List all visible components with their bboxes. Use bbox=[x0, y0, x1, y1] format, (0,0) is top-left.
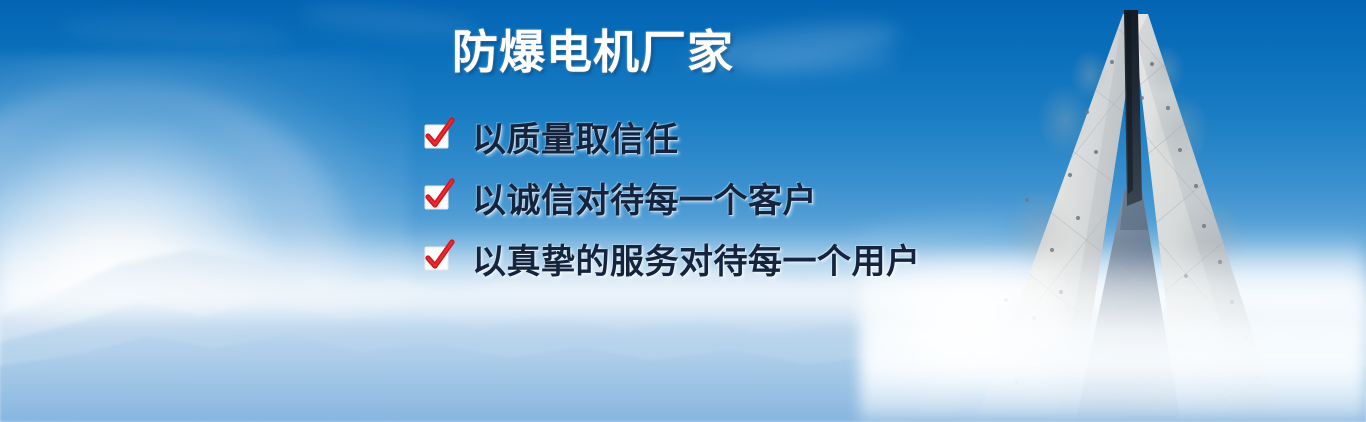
list-item: 以诚信对待每一个客户 bbox=[424, 167, 921, 228]
red-check-box-icon bbox=[424, 185, 450, 211]
red-check-box-icon bbox=[424, 124, 450, 150]
list-item-label: 以质量取信任 bbox=[472, 112, 679, 161]
list-item: 以真挚的服务对待每一个用户 bbox=[424, 228, 921, 289]
red-check-box-icon bbox=[424, 246, 450, 272]
list-item-label: 以诚信对待每一个客户 bbox=[472, 173, 817, 222]
page-title: 防爆电机厂家 bbox=[452, 27, 734, 78]
list-item-label: 以真挚的服务对待每一个用户 bbox=[472, 234, 921, 283]
list-item: 以质量取信任 bbox=[424, 106, 921, 167]
banner-content: 防爆电机厂家 以质量取信任 bbox=[0, 0, 1366, 422]
promo-banner: 防爆电机厂家 以质量取信任 bbox=[0, 0, 1366, 422]
feature-list: 以质量取信任 以诚信对待每一个客户 bbox=[424, 106, 921, 289]
